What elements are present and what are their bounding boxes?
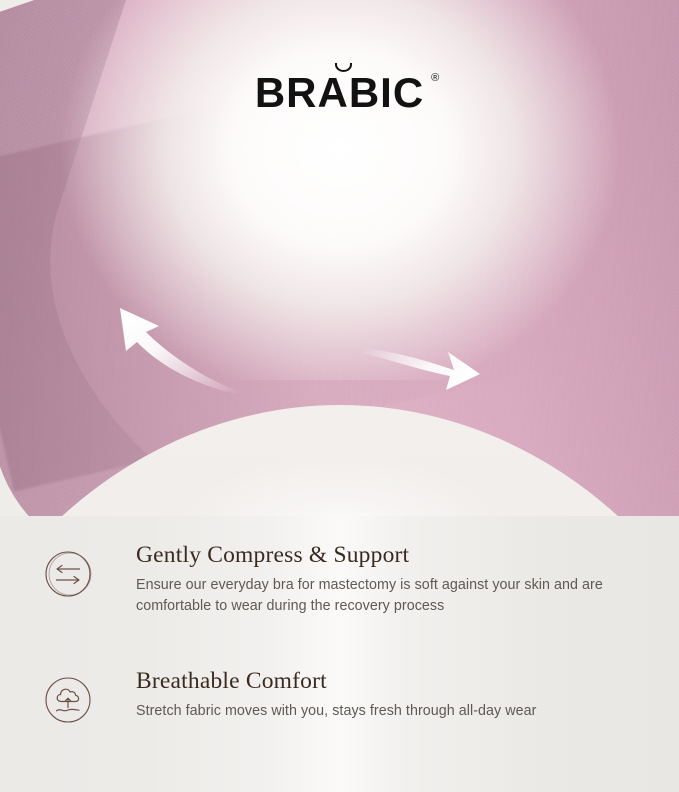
brand-logo: BRABIC®	[0, 72, 679, 114]
feature-item: Gently Compress & Support Ensure our eve…	[0, 542, 679, 618]
feature-icon-cell	[0, 542, 136, 618]
feature-text-cell: Breathable Comfort Stretch fabric moves …	[136, 668, 679, 724]
brand-name-part-2: BIC	[349, 69, 424, 116]
feature-title: Breathable Comfort	[136, 668, 645, 696]
feature-text-cell: Gently Compress & Support Ensure our eve…	[136, 542, 679, 618]
breathable-cloud-icon	[44, 676, 92, 724]
registered-trademark-symbol: ®	[431, 73, 439, 84]
feature-title: Gently Compress & Support	[136, 542, 645, 570]
compress-arrows-icon	[44, 550, 92, 598]
brand-name-part-1: BR	[255, 69, 318, 116]
feature-description: Stretch fabric moves with you, stays fre…	[136, 701, 645, 723]
hero-product-image: BRABIC®	[0, 0, 679, 530]
product-feature-page: BRABIC® Gently Compress & Support Ensure…	[0, 0, 679, 792]
feature-list: Gently Compress & Support Ensure our eve…	[0, 516, 679, 792]
feature-icon-cell	[0, 668, 136, 724]
feature-description: Ensure our everyday bra for mastectomy i…	[136, 575, 645, 618]
brand-logo-text: BRABIC®	[255, 72, 424, 114]
feature-item: Breathable Comfort Stretch fabric moves …	[0, 668, 679, 724]
brand-name-accented-letter: A	[317, 69, 348, 116]
